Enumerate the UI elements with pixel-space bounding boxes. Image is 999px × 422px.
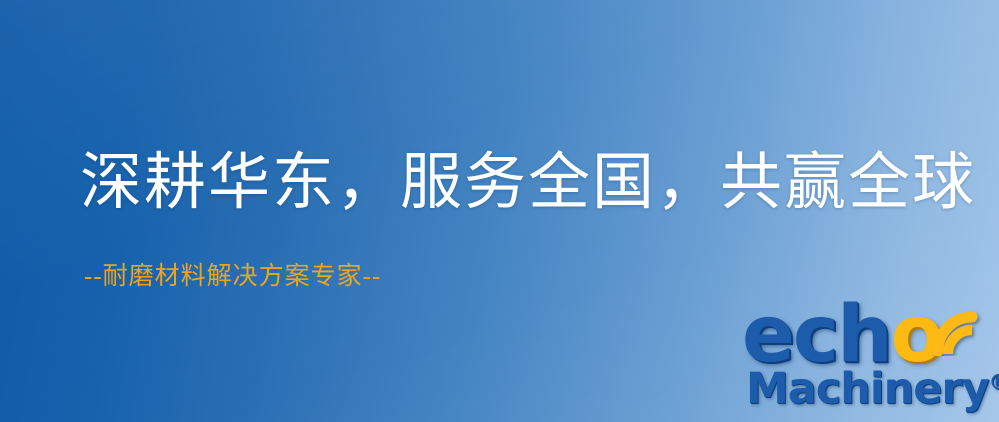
- logo-machinery-text: Machinery: [746, 364, 989, 414]
- registered-trademark-icon: ®: [989, 370, 999, 394]
- logo-wordmark-machinery: Machinery®: [746, 368, 999, 411]
- company-logo[interactable]: echo: [742, 296, 994, 418]
- hero-banner: 深耕华东，服务全国，共赢全球 --耐磨材料解决方案专家-- echo: [0, 0, 999, 422]
- banner-headline: 深耕华东，服务全国，共赢全球: [80, 152, 976, 214]
- logo-wordmark-echo: echo: [742, 296, 942, 374]
- banner-subtitle: --耐磨材料解决方案专家--: [84, 264, 381, 289]
- signal-waves-icon: [928, 294, 992, 356]
